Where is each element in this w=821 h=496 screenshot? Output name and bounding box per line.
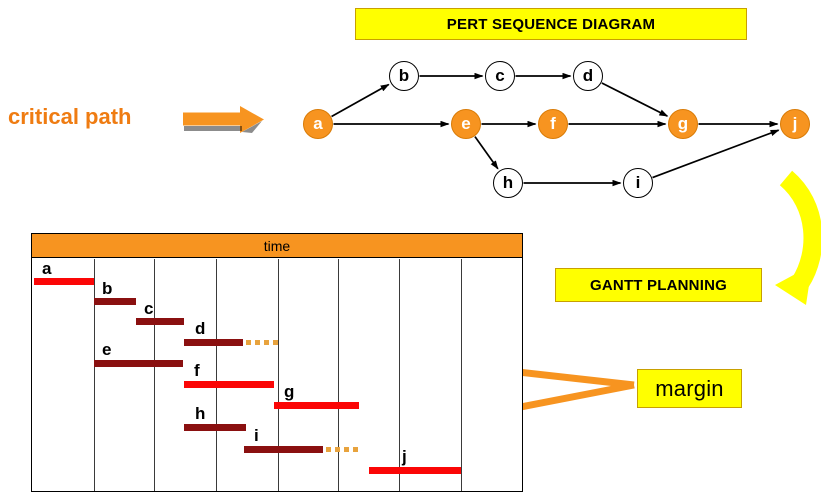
pert-node-a[interactable]: a — [303, 109, 333, 139]
gantt-slack-dots-d — [246, 340, 279, 345]
pert-edge-a-b — [332, 85, 389, 117]
slack-dot — [255, 340, 260, 345]
gantt-bar-j[interactable] — [369, 467, 461, 474]
gantt-bar-label-h: h — [195, 405, 205, 422]
diagram-canvas: PERT SEQUENCE DIAGRAM critical path — [0, 0, 821, 496]
pert-node-b[interactable]: b — [389, 61, 419, 91]
gantt-slack-dots-i — [326, 447, 360, 452]
gantt-gridline-6 — [461, 259, 462, 491]
pert-node-c[interactable]: c — [485, 61, 515, 91]
gantt-bar-label-e: e — [102, 341, 111, 358]
pert-node-j[interactable]: j — [780, 109, 810, 139]
gantt-bar-i[interactable] — [244, 446, 323, 453]
pert-node-label: j — [793, 114, 798, 134]
gantt-gridline-4 — [338, 259, 339, 491]
gantt-bar-h[interactable] — [184, 424, 246, 431]
pert-node-d[interactable]: d — [573, 61, 603, 91]
pert-node-label: a — [313, 114, 322, 134]
gantt-gridline-3 — [278, 259, 279, 491]
slack-dot — [353, 447, 358, 452]
gantt-bar-b[interactable] — [94, 298, 136, 305]
pert-node-label: c — [495, 66, 504, 86]
slack-dot — [344, 447, 349, 452]
pert-node-i[interactable]: i — [623, 168, 653, 198]
gantt-bar-label-b: b — [102, 280, 112, 297]
gantt-bar-label-d: d — [195, 320, 205, 337]
pert-edge-i-j — [653, 130, 779, 177]
pert-node-label: e — [461, 114, 470, 134]
pert-node-label: d — [583, 66, 593, 86]
pert-node-label: h — [503, 173, 513, 193]
critical-path-arrow — [183, 106, 264, 133]
gantt-flow-curved-arrow — [775, 178, 813, 305]
pert-node-f[interactable]: f — [538, 109, 568, 139]
gantt-bar-a[interactable] — [34, 278, 94, 285]
gantt-bar-label-i: i — [254, 427, 259, 444]
gantt-bar-label-f: f — [194, 362, 200, 379]
gantt-chart: time abcdefghij — [31, 233, 523, 492]
pert-edge-e-h — [475, 137, 498, 169]
gantt-bar-f[interactable] — [184, 381, 274, 388]
slack-dot — [246, 340, 251, 345]
gantt-time-header: time — [32, 234, 522, 258]
gantt-gridline-2 — [216, 259, 217, 491]
slack-dot — [326, 447, 331, 452]
gantt-title-banner: GANTT PLANNING — [555, 268, 762, 302]
pert-node-h[interactable]: h — [493, 168, 523, 198]
slack-dot — [273, 340, 278, 345]
pert-node-g[interactable]: g — [668, 109, 698, 139]
gantt-bar-label-a: a — [42, 260, 51, 277]
pert-node-label: f — [550, 114, 556, 134]
gantt-bar-c[interactable] — [136, 318, 184, 325]
gantt-bar-g[interactable] — [274, 402, 359, 409]
pert-node-e[interactable]: e — [451, 109, 481, 139]
gantt-gridline-0 — [94, 259, 95, 491]
pert-node-label: i — [636, 173, 641, 193]
slack-dot — [264, 340, 269, 345]
gantt-bar-label-c: c — [144, 300, 153, 317]
gantt-bar-label-j: j — [402, 448, 407, 465]
pert-node-label: b — [399, 66, 409, 86]
gantt-bar-label-g: g — [284, 383, 294, 400]
pert-edge-d-g — [602, 83, 668, 116]
slack-dot — [335, 447, 340, 452]
gantt-gridline-1 — [154, 259, 155, 491]
gantt-gridline-5 — [399, 259, 400, 491]
gantt-bar-e[interactable] — [94, 360, 183, 367]
margin-label-banner: margin — [637, 369, 742, 408]
gantt-bar-d[interactable] — [184, 339, 243, 346]
pert-node-label: g — [678, 114, 688, 134]
